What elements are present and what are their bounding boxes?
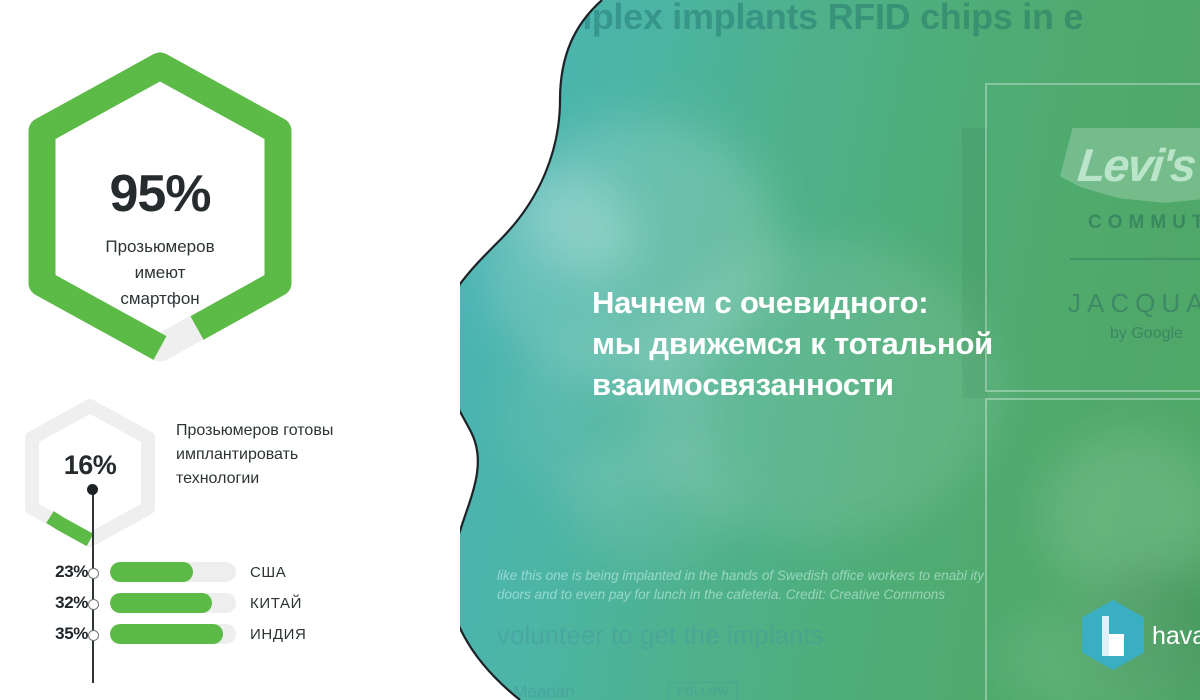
brand-divider bbox=[1070, 258, 1200, 260]
slide-headline-line-2: мы движемся к тотальной bbox=[592, 323, 1062, 364]
connector-dot bbox=[87, 484, 98, 495]
caption-line: технологии bbox=[176, 467, 396, 491]
bar-fill bbox=[110, 593, 212, 613]
slide-headline-line-3: взаимосвязанности bbox=[592, 364, 1062, 405]
bar-track bbox=[110, 624, 236, 644]
infographic-panel: 95% Прозьюмеров имеют смартфон 16% Прозь… bbox=[0, 0, 460, 700]
photo-hand-blob bbox=[560, 440, 740, 560]
levis-commuter-label: COMMUTER bbox=[1088, 212, 1200, 234]
hex-gauge-95: 95% Прозьюмеров имеют смартфон bbox=[22, 52, 298, 362]
bar-category-label: КИТАЙ bbox=[250, 595, 302, 612]
caption-line: смартфон bbox=[60, 286, 260, 312]
levis-logo: Levi's ® bbox=[1060, 128, 1200, 206]
bar-fill bbox=[110, 624, 223, 644]
bar-row: 23% США bbox=[0, 560, 400, 586]
bar-value-label: 35% bbox=[40, 624, 88, 644]
havas-h-letter-icon bbox=[1102, 616, 1124, 656]
article-headline-clipped: mplex implants RFID chips in e bbox=[560, 0, 1200, 38]
caption-line: Прозьюмеров bbox=[60, 234, 260, 260]
hex-gauge-16: 16% bbox=[20, 398, 160, 548]
levis-wordmark: Levi's bbox=[1075, 138, 1197, 192]
bar-category-label: США bbox=[250, 564, 286, 581]
caption-line: Прозьюмеров готовы bbox=[176, 419, 396, 443]
hex-gauge-95-caption: Прозьюмеров имеют смартфон bbox=[60, 234, 260, 312]
havas-hexagon-icon bbox=[1082, 600, 1144, 670]
article-photo-caption: like this one is being implanted in the … bbox=[497, 566, 1017, 604]
bar-row: 32% КИТАЙ bbox=[0, 591, 400, 617]
hex-gauge-95-value: 95% bbox=[22, 164, 298, 224]
havas-logo: havas bbox=[1082, 600, 1200, 672]
caption-line: имеют bbox=[60, 260, 260, 286]
bar-track bbox=[110, 562, 236, 582]
bar-row: 35% ИНДИЯ bbox=[0, 622, 400, 648]
bar-track bbox=[110, 593, 236, 613]
slide-headline-line-1: Начнем с очевидного: bbox=[592, 282, 1062, 323]
hex-gauge-16-caption: Прозьюмеров готовы имплантировать технол… bbox=[176, 419, 396, 491]
bar-category-label: ИНДИЯ bbox=[250, 626, 306, 643]
jacquard-wordmark: JACQUARD bbox=[1068, 288, 1200, 319]
article-byline: s Mearian bbox=[500, 682, 575, 700]
follow-button[interactable]: FOLLOW bbox=[668, 682, 738, 700]
havas-wordmark: havas bbox=[1152, 622, 1200, 651]
bar-value-label: 32% bbox=[40, 593, 88, 613]
country-bar-chart: 23% США 32% КИТАЙ 35% ИНДИЯ bbox=[0, 560, 400, 653]
caption-line: имплантировать bbox=[176, 443, 396, 467]
bar-node-marker bbox=[88, 630, 99, 641]
bar-node-marker bbox=[88, 599, 99, 610]
bar-value-label: 23% bbox=[40, 562, 88, 582]
bar-node-marker bbox=[88, 568, 99, 579]
jacquard-by-google-label: by Google bbox=[1110, 325, 1183, 343]
hex-gauge-16-value: 16% bbox=[20, 450, 160, 481]
bar-fill bbox=[110, 562, 193, 582]
slide-headline: Начнем с очевидного: мы движемся к тотал… bbox=[592, 282, 1062, 405]
article-subheadline: volunteer to get the implants bbox=[497, 620, 824, 651]
